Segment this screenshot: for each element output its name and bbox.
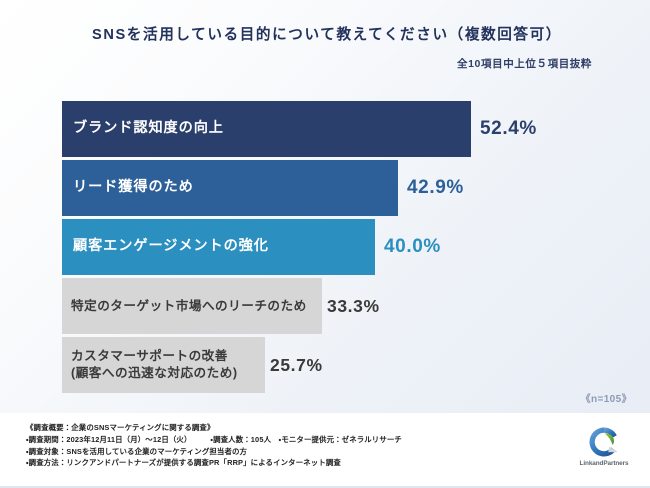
survey-target-line: ・調査対象：SNSを活用している企業のマーケティング担当者の方	[26, 446, 586, 457]
company-logo: LinkandPartners	[572, 425, 636, 477]
bar-category-label: 顧客エンゲージメントの強化	[62, 237, 277, 256]
bar-chart: ブランド認知度の向上 52.4% リード獲得のため 42.9% 顧客エンゲージメ…	[0, 101, 650, 401]
page-title: SNSを活用している目的について教えてください（複数回答可）	[0, 26, 650, 45]
bar-category-label: カスタマーサポートの改善 (顧客への迅速な対応のため)	[62, 348, 241, 381]
bar-category-label: リード獲得のため	[62, 178, 202, 197]
bar-row: 顧客エンゲージメントの強化 40.0%	[62, 219, 441, 275]
survey-footer: 《調査概要：企業のSNSマーケティングに関する調査》 ・調査期間：2023年12…	[0, 413, 650, 488]
bar-row: リード獲得のため 42.9%	[62, 160, 464, 216]
slide-canvas: SNSを活用している目的について教えてください（複数回答可） 全10項目中上位５…	[0, 0, 650, 488]
bar-fill: 特定のターゲット市場へのリーチのため	[62, 278, 322, 334]
bar-row: カスタマーサポートの改善 (顧客への迅速な対応のため) 25.7%	[62, 337, 323, 393]
survey-overview-heading: 《調査概要：企業のSNSマーケティングに関する調査》	[26, 422, 586, 433]
bar-fill: ブランド認知度の向上	[62, 101, 471, 157]
bar-fill: 顧客エンゲージメントの強化	[62, 219, 375, 275]
bar-fill: リード獲得のため	[62, 160, 398, 216]
survey-period-line: ・調査期間：2023年12月11日（月）〜12日（火） ・調査人数：105人 ・…	[26, 434, 586, 445]
bar-value-label: 33.3%	[322, 296, 380, 317]
sample-size-note: 《n=105》	[581, 390, 632, 405]
bar-category-label: 特定のターゲット市場へのリーチのため	[62, 298, 310, 315]
bar-row: ブランド認知度の向上 52.4%	[62, 101, 537, 157]
bar-value-label: 40.0%	[375, 236, 441, 258]
bar-fill: カスタマーサポートの改善 (顧客への迅速な対応のため)	[62, 337, 265, 393]
bar-category-label: ブランド認知度の向上	[62, 119, 232, 138]
bar-value-label: 42.9%	[398, 177, 464, 199]
bar-value-label: 52.4%	[471, 118, 537, 140]
survey-details: 《調査概要：企業のSNSマーケティングに関する調査》 ・調査期間：2023年12…	[26, 422, 586, 469]
chart-header: SNSを活用している目的について教えてください（複数回答可） 全10項目中上位５…	[0, 26, 650, 71]
link-and-partners-logo-icon	[587, 425, 621, 459]
logo-wordmark: LinkandPartners	[572, 460, 636, 467]
chart-subtitle: 全10項目中上位５項目抜粋	[0, 56, 650, 71]
bar-row: 特定のターゲット市場へのリーチのため 33.3%	[62, 278, 380, 334]
bar-value-label: 25.7%	[265, 355, 323, 376]
survey-method-line: ・調査方法：リンクアンドパートナーズが提供する調査PR「RRP」によるインターネ…	[26, 457, 586, 468]
